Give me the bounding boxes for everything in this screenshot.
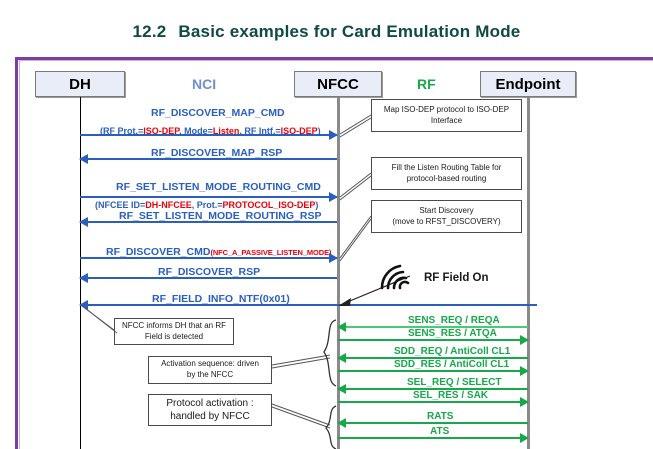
page-title-text: Basic examples for Card Emulation Mode (178, 22, 520, 41)
note-protocol-activation-line2: handled by NFCC (170, 411, 249, 422)
ats-label: ATS (427, 427, 452, 438)
note-activation-seq-line1: Activation sequence: driven (161, 359, 259, 368)
note-rf-field-detected: NFCC informs DH that an RF Field is dete… (114, 318, 234, 345)
rats-label: RATS (424, 412, 456, 423)
sens-res-label: SENS_RES / ATQA (405, 329, 500, 340)
note-rf-field-detected-line2: Field is detected (145, 332, 203, 341)
note-start-discovery: Start Discovery (move to RFST_DISCOVERY) (371, 200, 522, 233)
note-map-iso-dep: Map ISO-DEP protocol to ISO-DEP Interfac… (371, 99, 522, 132)
note-map-iso-dep-line2: Interface (431, 116, 462, 125)
actor-endpoint[interactable]: Endpoint (480, 71, 576, 97)
sel-res-label: SEL_RES / SAK (410, 391, 491, 402)
channel-label-rf: RF (417, 76, 436, 92)
note-listen-routing-line2: protocol-based routing (407, 174, 487, 183)
note-activation-seq-line2: by the NFCC (187, 370, 233, 379)
note-protocol-activation-line1: Protocol activation : (166, 398, 253, 409)
note-map-iso-dep-line1: Map ISO-DEP protocol to ISO-DEP (384, 105, 509, 114)
sdd-req-label: SDD_REQ / AntiColl CL1 (391, 347, 513, 358)
sdd-res-label: SDD_RES / AntiColl CL1 (391, 360, 512, 371)
sens-req-label: SENS_REQ / REQA (405, 316, 503, 327)
note-listen-routing-line1: Fill the Listen Routing Table for (392, 163, 502, 172)
rf-field-on-label: RF Field On (424, 272, 489, 284)
note-protocol-activation: Protocol activation : handled by NFCC (148, 394, 272, 426)
rf-discover-map-cmd-label: RF_DISCOVER_MAP_CMD (148, 108, 288, 119)
channel-label-nci: NCI (192, 76, 216, 92)
actor-nfcc-label: NFCC (317, 76, 359, 93)
actor-dh-label: DH (69, 76, 91, 93)
note-rf-field-detected-line1: NFCC informs DH that an RF (122, 321, 226, 330)
page-title: 12.2Basic examples for Card Emulation Mo… (0, 22, 653, 42)
actor-endpoint-label: Endpoint (496, 76, 561, 93)
rf-discover-map-cmd-params: (RF Prot.=ISO-DEP, Mode=Listen, RF Intf.… (97, 122, 324, 139)
rf-set-listen-mode-routing-cmd-label: RF_SET_LISTEN_MODE_ROUTING_CMD (113, 182, 324, 193)
slide-canvas: 12.2Basic examples for Card Emulation Mo… (0, 0, 653, 449)
actor-nfcc[interactable]: NFCC (294, 71, 382, 97)
page-title-number: 12.2 (133, 22, 167, 41)
note-start-discovery-line1: Start Discovery (419, 206, 473, 215)
note-start-discovery-line2: (move to RFST_DISCOVERY) (392, 217, 500, 226)
actor-dh[interactable]: DH (35, 71, 125, 97)
lifeline-nfcc (337, 97, 340, 449)
sel-req-label: SEL_REQ / SELECT (404, 378, 504, 389)
rf-discover-cmd-params: (NFC_A_PASSIVE_LISTEN_MODE) (210, 248, 331, 257)
note-activation-seq: Activation sequence: driven by the NFCC (148, 356, 272, 384)
note-listen-routing: Fill the Listen Routing Table for protoc… (371, 157, 522, 190)
